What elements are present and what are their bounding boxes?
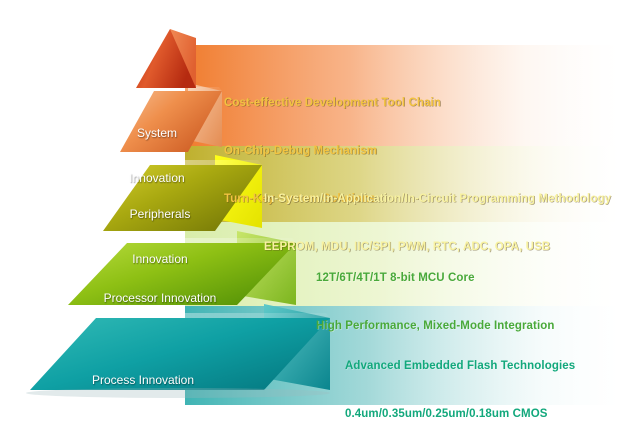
band-text-process-innovation: Advanced Embedded Flash Technologies 0.4…	[345, 326, 575, 430]
band-text-processor-line-1: 12T/6T/4T/1T 8-bit MCU Core	[316, 270, 555, 286]
pyramid-apex[interactable]	[136, 29, 196, 88]
band-text-system-line-2: On-Chip-Debug Mechanism	[224, 143, 441, 159]
tier-label-system-line1: System	[121, 126, 193, 141]
tier-label-processor-line1: Processor Innovation	[80, 291, 240, 306]
band-text-process-line-1: Advanced Embedded Flash Technologies	[345, 358, 575, 374]
diagram-canvas: System Innovation Peripherals Innovation…	[0, 0, 620, 430]
band-text-process-line-2: 0.4um/0.35um/0.25um/0.18um CMOS	[345, 406, 575, 422]
tier-label-process-innovation: Process Innovation	[48, 343, 238, 418]
band-text-peripherals-line-1: In-System/In-Application/In-Circuit Prog…	[264, 191, 611, 207]
band-text-system-line-1: Cost-effective Development Tool Chain	[224, 95, 441, 111]
tier-label-processor-innovation: Processor Innovation	[80, 261, 240, 336]
tier-label-process-line1: Process Innovation	[48, 373, 238, 388]
tier-label-peripherals-line1: Peripherals	[112, 207, 208, 222]
